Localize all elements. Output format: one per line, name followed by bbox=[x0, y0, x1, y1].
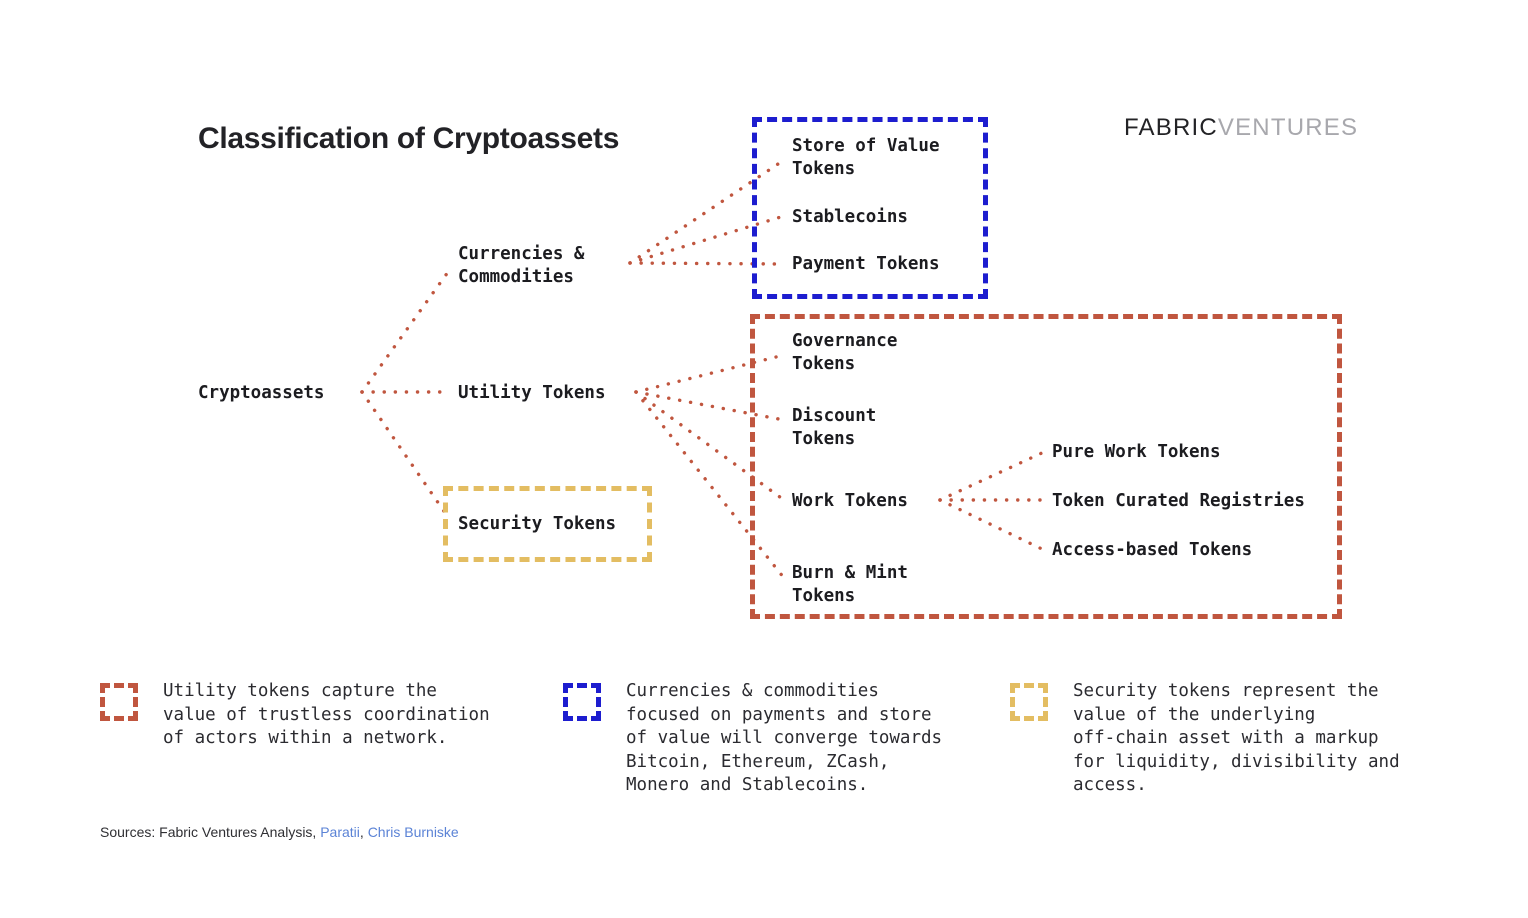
node-work-tokens: Work Tokens bbox=[792, 490, 908, 513]
node-store-of-value-tokens: Store of Value Tokens bbox=[792, 135, 940, 181]
legend-swatch-utility bbox=[100, 683, 138, 721]
node-utility-tokens: Utility Tokens bbox=[458, 382, 606, 405]
legend-item-currencies: Currencies & commodities focused on paym… bbox=[563, 680, 942, 798]
node-pure-work-tokens: Pure Work Tokens bbox=[1052, 441, 1221, 464]
legend-text-currencies: Currencies & commodities focused on paym… bbox=[626, 680, 942, 798]
edge-root-to-currencies bbox=[362, 272, 448, 392]
edge-root-to-security bbox=[362, 392, 450, 520]
logo-secondary-text: VENTURES bbox=[1218, 114, 1358, 141]
legend-swatch-currencies bbox=[563, 683, 601, 721]
source-link-chris-burniske[interactable]: Chris Burniske bbox=[368, 824, 459, 840]
legend-item-utility: Utility tokens capture the value of trus… bbox=[100, 680, 490, 751]
source-link-paratii[interactable]: Paratii bbox=[320, 824, 360, 840]
page-title: Classification of Cryptoassets bbox=[198, 122, 619, 156]
legend-text-utility: Utility tokens capture the value of trus… bbox=[163, 680, 490, 751]
legend-item-security: Security tokens represent the value of t… bbox=[1010, 680, 1400, 798]
sources-separator: , bbox=[360, 824, 368, 840]
legend-text-security: Security tokens represent the value of t… bbox=[1073, 680, 1400, 798]
node-payment-tokens: Payment Tokens bbox=[792, 253, 940, 276]
sources-prefix: Sources: Fabric Ventures Analysis, bbox=[100, 824, 320, 840]
diagram-canvas: Classification of Cryptoassets FABRICVEN… bbox=[0, 0, 1528, 918]
node-burn-and-mint-tokens: Burn & Mint Tokens bbox=[792, 562, 908, 608]
node-token-curated-registries: Token Curated Registries bbox=[1052, 490, 1305, 513]
legend-swatch-security bbox=[1010, 683, 1048, 721]
node-discount-tokens: Discount Tokens bbox=[792, 405, 876, 451]
sources-line: Sources: Fabric Ventures Analysis, Parat… bbox=[100, 824, 459, 840]
node-access-based-tokens: Access-based Tokens bbox=[1052, 539, 1252, 562]
logo-primary-text: FABRIC bbox=[1124, 114, 1218, 141]
node-governance-tokens: Governance Tokens bbox=[792, 330, 897, 376]
fabric-ventures-logo: FABRICVENTURES bbox=[1124, 114, 1358, 142]
node-cryptoassets: Cryptoassets bbox=[198, 382, 324, 405]
node-stablecoins: Stablecoins bbox=[792, 206, 908, 229]
node-security-tokens: Security Tokens bbox=[458, 513, 616, 536]
node-currencies-commodities: Currencies & Commodities bbox=[458, 243, 584, 289]
